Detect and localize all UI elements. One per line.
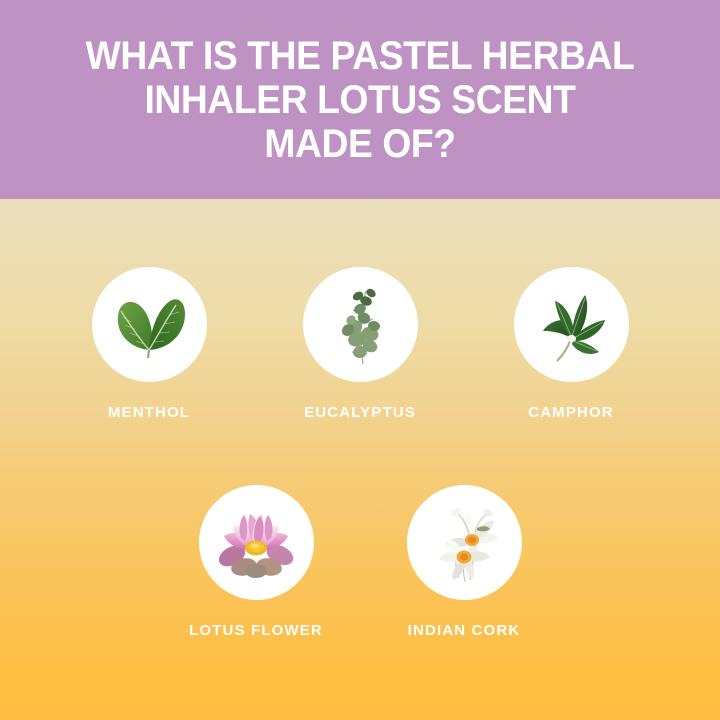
ingredient-label: CAMPHOR [528,404,614,421]
ingredient-item-camphor: CAMPHOR [466,267,677,421]
header-band: WHAT IS THE PASTEL HERBAL INHALER LOTUS … [0,0,720,199]
ingredient-icon-disc [199,485,314,600]
ingredient-row-2: LOTUS FLOWER [0,485,720,639]
title-line-2: INHALER LOTUS SCENT [53,78,667,122]
ingredient-label: MENTHOL [108,404,190,421]
ingredient-row-1: MENTHOL [0,267,720,421]
ingredients-section: MENTHOL [0,199,720,720]
lotus-flower-icon [211,498,301,588]
ingredient-item-menthol: MENTHOL [44,267,255,421]
ingredient-item-lotus-flower: LOTUS FLOWER [152,485,360,639]
ingredient-label: LOTUS FLOWER [189,622,323,639]
mint-leaves-icon [106,282,192,368]
camphor-leaf-icon [527,281,615,369]
ingredient-icon-disc [407,485,522,600]
ingredient-icon-disc [303,267,418,382]
ingredient-icon-disc [514,267,629,382]
title-line-1: WHAT IS THE PASTEL HERBAL [53,34,667,78]
infographic-poster: WHAT IS THE PASTEL HERBAL INHALER LOTUS … [0,0,720,720]
eucalyptus-sprig-icon [317,282,403,368]
ingredient-icon-disc [92,267,207,382]
page-title: WHAT IS THE PASTEL HERBAL INHALER LOTUS … [53,34,667,166]
ingredient-item-eucalyptus: EUCALYPTUS [255,267,466,421]
ingredient-label: EUCALYPTUS [304,404,416,421]
indian-cork-flower-icon [419,498,509,588]
ingredient-item-indian-cork: INDIAN CORK [360,485,568,639]
ingredient-label: INDIAN CORK [408,622,521,639]
title-line-3: MADE OF? [53,122,667,166]
